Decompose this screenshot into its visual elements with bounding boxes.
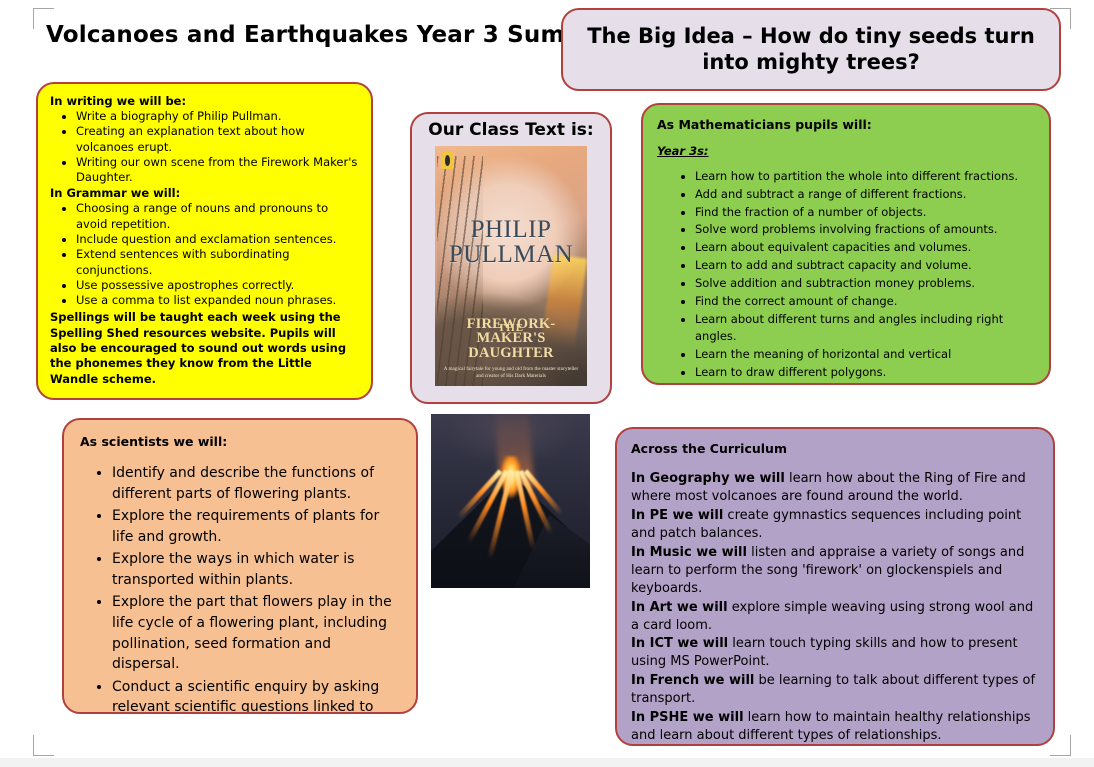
list-item: Find the fraction of a number of objects… bbox=[695, 204, 1035, 222]
curriculum-row: In Music we will listen and appraise a v… bbox=[631, 544, 1039, 598]
curriculum-subject: In PSHE we will bbox=[631, 710, 744, 725]
curriculum-subject: In Art we will bbox=[631, 600, 728, 615]
list-item: Solve addition and subtraction money pro… bbox=[695, 275, 1035, 293]
list-item: Learn about equivalent capacities and vo… bbox=[695, 239, 1035, 257]
list-item: Find the correct amount of change. bbox=[695, 293, 1035, 311]
curriculum-row: In PSHE we will learn how to maintain he… bbox=[631, 709, 1039, 745]
maths-panel: As Mathematicians pupils will: Year 3s: … bbox=[641, 103, 1051, 385]
list-item: Conduct a scientific enquiry by asking r… bbox=[112, 677, 400, 714]
list-item: Choosing a range of nouns and pronouns t… bbox=[76, 201, 359, 232]
grammar-list: Choosing a range of nouns and pronouns t… bbox=[50, 201, 359, 308]
volcano-eruption-photo bbox=[431, 414, 590, 588]
maths-subheading: Year 3s: bbox=[657, 144, 1035, 158]
topic-web-page: Volcanoes and Earthquakes Year 3 Summer … bbox=[0, 0, 1094, 767]
list-item: Explore the requirements of plants for l… bbox=[112, 506, 400, 547]
science-heading: As scientists we will: bbox=[80, 434, 400, 449]
maths-list: Learn how to partition the whole into di… bbox=[657, 168, 1035, 382]
list-item: Learn to add and subtract capacity and v… bbox=[695, 257, 1035, 275]
curriculum-subject: In ICT we will bbox=[631, 636, 728, 651]
curriculum-row: In ICT we will learn touch typing skills… bbox=[631, 635, 1039, 671]
list-item: Use possessive apostrophes correctly. bbox=[76, 278, 359, 293]
grammar-heading: In Grammar we will: bbox=[50, 186, 359, 200]
list-item: Learn the meaning of horizontal and vert… bbox=[695, 346, 1035, 364]
book-cover-image: PHILIP PULLMAN THE FIREWORK-MAKER'S DAUG… bbox=[435, 146, 587, 386]
list-item: Explore the ways in which water is trans… bbox=[112, 549, 400, 590]
page-bottom-strip bbox=[0, 758, 1094, 767]
book-blurb: A magical fairytale for young and old fr… bbox=[443, 366, 579, 380]
class-text-heading: Our Class Text is: bbox=[428, 120, 593, 140]
curriculum-row: In French we will be learning to talk ab… bbox=[631, 672, 1039, 708]
list-item: Learn about different turns and angles i… bbox=[695, 311, 1035, 347]
book-title-main: FIREWORK-MAKER'S DAUGHTER bbox=[435, 317, 587, 361]
curriculum-row: In Geography we will learn how about the… bbox=[631, 470, 1039, 506]
list-item: Learn to draw different polygons. bbox=[695, 364, 1035, 382]
spelling-paragraph: Spellings will be taught each week using… bbox=[50, 310, 359, 386]
maths-heading: As Mathematicians pupils will: bbox=[657, 117, 1035, 132]
list-item: Identify and describe the functions of d… bbox=[112, 463, 400, 504]
list-item: Writing our own scene from the Firework … bbox=[76, 155, 359, 186]
list-item: Solve word problems involving fractions … bbox=[695, 221, 1035, 239]
big-idea-text: The Big Idea – How do tiny seeds turn in… bbox=[579, 24, 1043, 75]
list-item: Learn how to partition the whole into di… bbox=[695, 168, 1035, 186]
list-item: Write a biography of Philip Pullman. bbox=[76, 109, 359, 124]
list-item: Include question and exclamation sentenc… bbox=[76, 232, 359, 247]
curriculum-row: In PE we will create gymnastics sequence… bbox=[631, 507, 1039, 543]
science-panel: As scientists we will: Identify and desc… bbox=[62, 418, 418, 714]
big-idea-panel: The Big Idea – How do tiny seeds turn in… bbox=[561, 8, 1061, 91]
penguin-logo-icon bbox=[441, 152, 454, 169]
writing-list: Write a biography of Philip Pullman. Cre… bbox=[50, 109, 359, 185]
book-author: PHILIP PULLMAN bbox=[435, 218, 587, 267]
list-item: Use a comma to list expanded noun phrase… bbox=[76, 293, 359, 308]
curriculum-subject: In French we will bbox=[631, 673, 754, 688]
curriculum-panel: Across the Curriculum In Geography we wi… bbox=[615, 427, 1055, 746]
writing-heading: In writing we will be: bbox=[50, 94, 359, 108]
class-text-panel: Our Class Text is: PHILIP PULLMAN THE FI… bbox=[410, 112, 612, 404]
list-item: Creating an explanation text about how v… bbox=[76, 124, 359, 155]
page-title: Volcanoes and Earthquakes Year 3 Summer … bbox=[46, 22, 566, 48]
list-item: Extend sentences with subordinating conj… bbox=[76, 247, 359, 278]
curriculum-subject: In Music we will bbox=[631, 545, 747, 560]
curriculum-subject: In Geography we will bbox=[631, 471, 785, 486]
crop-mark-bottom-right bbox=[1050, 735, 1071, 756]
writing-panel: In writing we will be: Write a biography… bbox=[36, 82, 373, 400]
crop-mark-bottom-left bbox=[33, 735, 54, 756]
list-item: Explore the part that flowers play in th… bbox=[112, 592, 400, 674]
science-list: Identify and describe the functions of d… bbox=[80, 463, 400, 714]
curriculum-row: In Art we will explore simple weaving us… bbox=[631, 599, 1039, 635]
curriculum-heading: Across the Curriculum bbox=[631, 441, 1039, 456]
curriculum-subject: In PE we will bbox=[631, 508, 723, 523]
list-item: Add and subtract a range of different fr… bbox=[695, 186, 1035, 204]
